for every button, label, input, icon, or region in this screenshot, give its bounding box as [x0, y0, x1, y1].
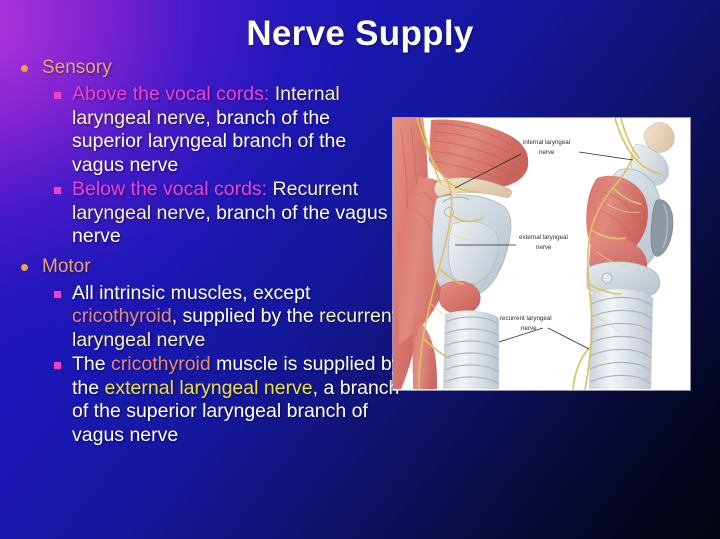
bullet-item-cricothyroid-muscle: The cricothyroid muscle is supplied by t…	[10, 353, 402, 447]
round-bullet-icon	[21, 264, 28, 271]
annotation-line-2: nerve	[536, 244, 552, 251]
bullet-run-label: Above the vocal cords:	[72, 83, 269, 105]
section-heading-motor: Motor	[10, 254, 402, 280]
bullet-run-cricothyroid: cricothyroid	[72, 305, 172, 327]
trachea-left	[443, 311, 499, 389]
page-title: Nerve Supply	[0, 14, 720, 54]
section-heading-label: Motor	[42, 256, 91, 277]
slide-canvas: Nerve Supply Sensory Above the vocal cor…	[0, 0, 720, 539]
bullet-run-label: Below the vocal cords:	[72, 178, 267, 200]
bullet-run-nerve: external laryngeal nerve	[105, 377, 313, 399]
square-bullet-icon	[54, 92, 61, 99]
section-heading-sensory: Sensory	[10, 55, 402, 81]
annotation-line-1: external laryngeal	[519, 234, 568, 241]
square-bullet-icon	[54, 291, 61, 298]
trachea-right	[589, 289, 653, 389]
anatomy-image: internal laryngeal nerve external laryng…	[393, 118, 690, 390]
annotation-line-1: recurrent laryngeal	[500, 315, 552, 322]
bullet-item-above-vocal-cords: Above the vocal cords: Internal laryngea…	[10, 83, 402, 177]
bullet-run-cricothyroid: cricothyroid	[111, 353, 211, 375]
square-bullet-icon	[54, 362, 61, 369]
bullet-item-intrinsic-muscles: All intrinsic muscles, except cricothyro…	[10, 282, 402, 353]
round-bullet-icon	[21, 65, 28, 72]
bullet-list: Sensory Above the vocal cords: Internal …	[10, 55, 402, 448]
square-bullet-icon	[54, 187, 61, 194]
bullet-item-below-vocal-cords: Below the vocal cords: Recurrent larynge…	[10, 178, 402, 249]
bullet-run-mid: , supplied by the	[172, 305, 319, 327]
annotation-line-2: nerve	[521, 325, 537, 332]
bullet-run-lead: The	[72, 353, 111, 375]
annotation-line-2: nerve	[539, 149, 555, 156]
section-heading-label: Sensory	[42, 57, 112, 78]
annotation-line-1: internal laryngeal	[523, 139, 570, 146]
bullet-run-lead: All intrinsic muscles, except	[72, 282, 310, 304]
